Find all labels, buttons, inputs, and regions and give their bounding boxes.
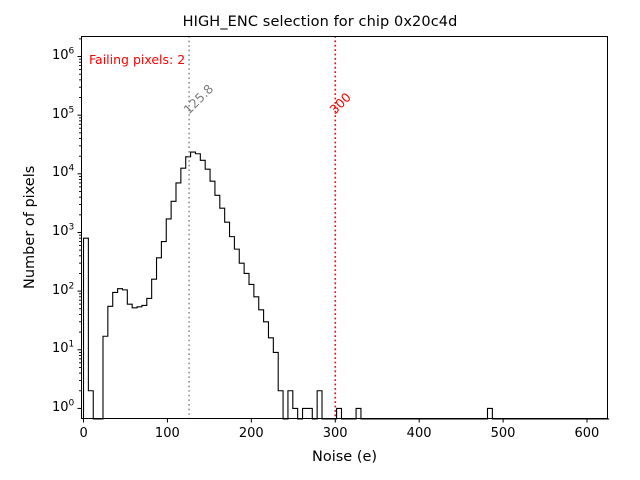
y-tick-label: 100 — [52, 400, 74, 415]
x-tick-label: 400 — [407, 426, 432, 441]
failing-pixels-note: Failing pixels: 2 — [89, 52, 185, 67]
y-axis-label: Number of pixels — [22, 166, 38, 289]
x-tick-label: 300 — [323, 426, 348, 441]
x-tick-label: 200 — [239, 426, 264, 441]
x-tick-label: 600 — [575, 426, 600, 441]
y-tick-label: 101 — [52, 341, 74, 356]
y-tick-label: 106 — [52, 48, 74, 63]
figure: HIGH_ENC selection for chip 0x20c4d Fail… — [0, 0, 640, 480]
y-tick-label: 104 — [52, 165, 74, 180]
y-tick-label: 102 — [52, 283, 74, 298]
x-tick-label: 0 — [80, 426, 88, 441]
y-tick-label: 103 — [52, 224, 74, 239]
x-tick-label: 100 — [155, 426, 180, 441]
x-axis-label: Noise (e) — [312, 449, 377, 465]
x-tick-label: 500 — [491, 426, 516, 441]
y-tick-label: 105 — [52, 107, 74, 122]
